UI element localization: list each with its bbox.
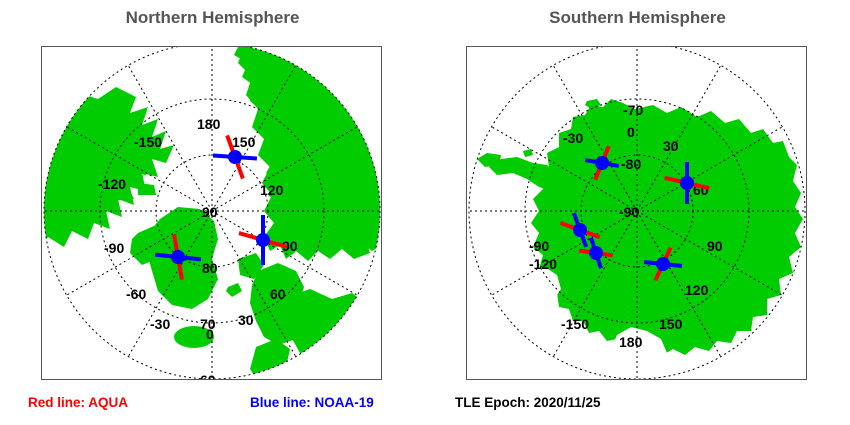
footer-legend: Red line: AQUA Blue line: NOAA-19 TLE Ep… [0, 395, 850, 419]
satellite-marker-sat-s-4[interactable] [589, 246, 603, 260]
lon-label-180: 180 [197, 116, 221, 132]
lon-label-30: 30 [238, 312, 254, 328]
land-eurasia-south [288, 289, 381, 379]
lon-label-120: 120 [260, 182, 284, 198]
s-lon-label-180: 180 [619, 334, 643, 350]
s-lon-label-150: 150 [659, 316, 683, 332]
s-lon-label-n30: -30 [563, 130, 583, 146]
s-lat-label-70: -70 [623, 102, 643, 118]
lon-label-n60: -60 [126, 286, 146, 302]
s-lon-label-90: 90 [707, 238, 723, 254]
southern-plot-canvas: -60 -30 0 30 60 90 120 150 180 -150 -120… [467, 47, 806, 379]
lat-label-60: 60 [200, 372, 216, 379]
s-pole-label: -90 [619, 204, 639, 220]
southern-hemisphere-panel: Southern Hemisphere [425, 0, 850, 425]
satellite-marker-sat-s-2[interactable] [680, 176, 694, 190]
s-lon-label-120: 120 [685, 282, 709, 298]
lon-label-150: 150 [232, 134, 256, 150]
s-lon-label-30: 30 [663, 138, 679, 154]
satellite-marker-sat-s-5[interactable] [656, 257, 670, 271]
satellite-marker-sat-n-3[interactable] [256, 233, 270, 247]
lon-label-n150: -150 [134, 134, 162, 150]
legend-epoch: TLE Epoch: 2020/11/25 [455, 395, 601, 410]
pole-label-90: 90 [202, 204, 218, 220]
s-lon-label-0: 0 [627, 124, 635, 140]
lon-label-60: 60 [270, 286, 286, 302]
northern-plot-canvas: 180 -150 -120 -90 -60 -30 0 30 60 90 120… [42, 47, 381, 379]
satellite-marker-sat-n-1[interactable] [228, 150, 242, 164]
southern-plot-frame: -60 -30 0 30 60 90 120 150 180 -150 -120… [466, 46, 807, 380]
s-lon-label-n150: -150 [561, 316, 589, 332]
s-lat-label-80: -80 [621, 156, 641, 172]
lon-label-n90: -90 [104, 240, 124, 256]
lon-label-n120: -120 [98, 176, 126, 192]
northern-panel-title: Northern Hemisphere [0, 8, 425, 28]
s-lon-label-n90: -90 [529, 238, 549, 254]
legend-aqua: Red line: AQUA [28, 395, 128, 410]
northern-hemisphere-panel: Northern Hemisphere [0, 0, 425, 425]
lat-label-80: 80 [202, 260, 218, 276]
southern-panel-title: Southern Hemisphere [425, 8, 850, 28]
northern-plot-frame: 180 -150 -120 -90 -60 -30 0 30 60 90 120… [41, 46, 382, 380]
satellite-marker-sat-s-1[interactable] [595, 156, 609, 170]
satellite-marker-sat-n-2[interactable] [171, 250, 185, 264]
s-lon-label-n120: -120 [529, 256, 557, 272]
legend-noaa19: Blue line: NOAA-19 [250, 395, 374, 410]
satellite-marker-sat-s-3[interactable] [573, 223, 587, 237]
lon-label-n30: -30 [150, 316, 170, 332]
lat-label-70: 70 [200, 316, 216, 332]
